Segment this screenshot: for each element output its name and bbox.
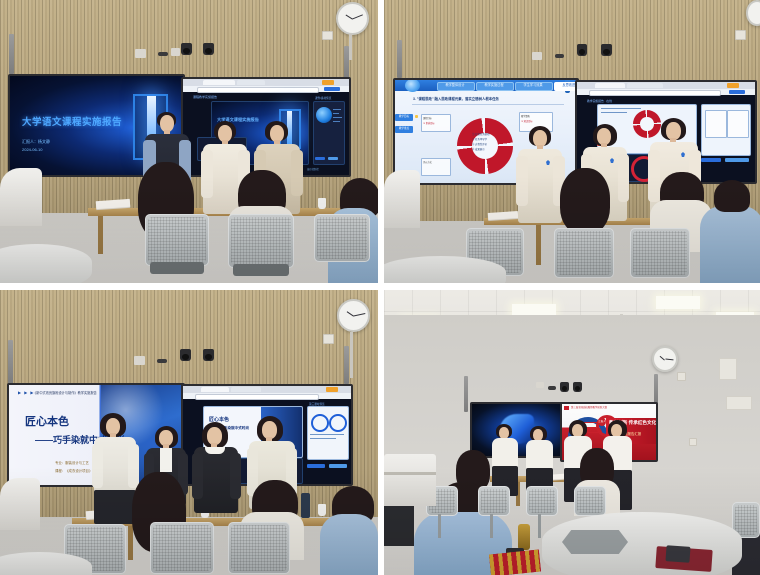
photo-top-left: 大学语文课程实施报告 汇报人：杨文静 2024-06-10 课程教学实施报告 [0, 0, 378, 283]
classroom-scene-br: 第三届全国高校教师教学创新大赛 教学创新 传承红色文化 教学实施报告汇报 汇报人 [384, 290, 760, 575]
classroom-scene-bl: ▶ ▶ ▶ 《新中式改良旗袍设计与制作》教学实施报告 匠心本色 ——巧手染就中式… [0, 290, 378, 575]
photo-bottom-left: ▶ ▶ ▶ 《新中式改良旗袍设计与制作》教学实施报告 匠心本色 ——巧手染就中式… [0, 290, 378, 575]
photo-top-right: 教学整体设计 教学实施过程 学生学习效果 反思改进措施 3. "课程思政" 融入… [384, 0, 760, 283]
classroom-scene-tr: 教学整体设计 教学实施过程 学生学习效果 反思改进措施 3. "课程思政" 融入… [384, 0, 760, 283]
photo-bottom-right: 第三届全国高校教师教学创新大赛 教学创新 传承红色文化 教学实施报告汇报 汇报人 [384, 290, 760, 575]
photo-collage: 大学语文课程实施报告 汇报人：杨文静 2024-06-10 课程教学实施报告 [0, 0, 760, 575]
classroom-scene-tl: 大学语文课程实施报告 汇报人：杨文静 2024-06-10 课程教学实施报告 [0, 0, 378, 283]
